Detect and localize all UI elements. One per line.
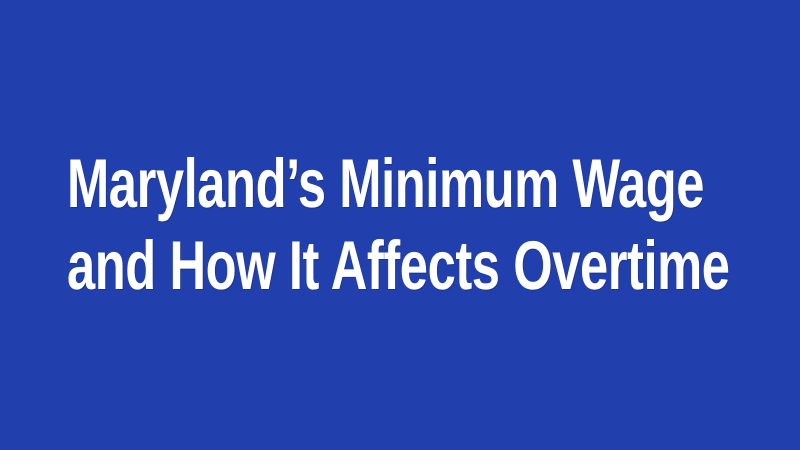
article-banner: Maryland’s Minimum Wage and How It Affec… <box>0 0 800 450</box>
page-title-line-1: Maryland’s Minimum Wage <box>67 143 730 225</box>
page-title: Maryland’s Minimum Wage and How It Affec… <box>67 143 730 307</box>
page-title-line-2: and How It Affects Overtime <box>67 225 730 307</box>
